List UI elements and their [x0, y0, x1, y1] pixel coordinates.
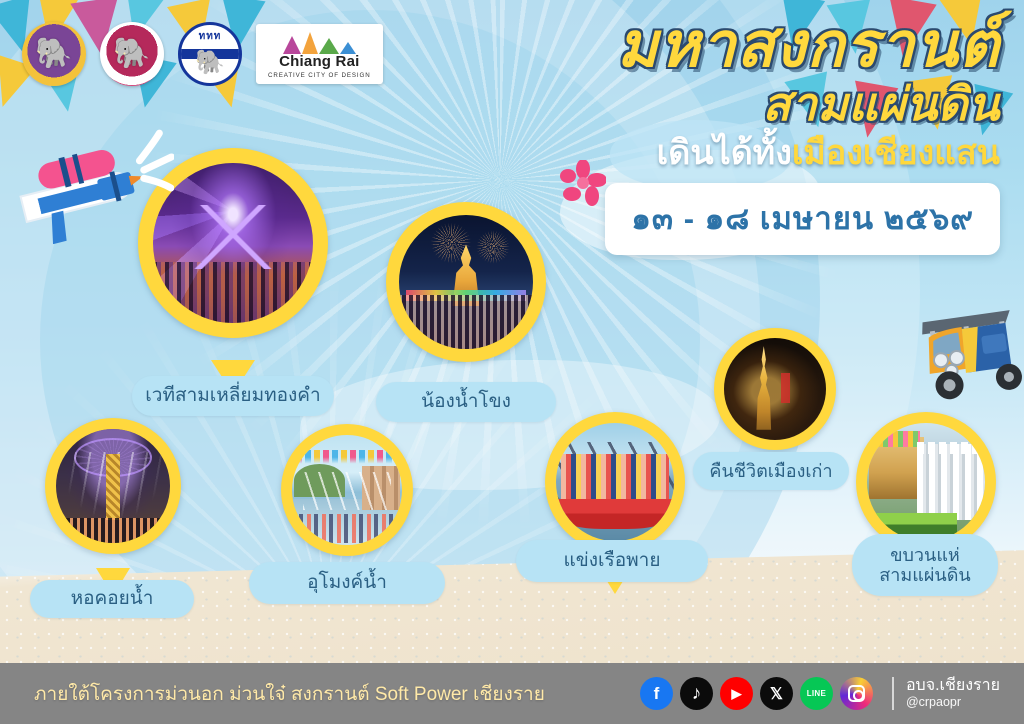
pin-label-text: แข่งเรือพาย: [564, 550, 661, 571]
elephant-icon: 🐘: [113, 39, 150, 69]
headline-block: มหาสงกรานต์ สามแผ่นดิน เดินได้ทั้งเมืองเ…: [480, 16, 1000, 255]
chiang-rai-subtitle: CREATIVE CITY OF DESIGN: [268, 72, 371, 79]
tagline: เดินได้ทั้งเมืองเชียงแสน: [480, 134, 1000, 173]
pin-photo: [724, 338, 826, 440]
pin-photo: [56, 429, 170, 543]
pin-bubble: [45, 418, 181, 554]
mountain-icon: [268, 30, 371, 54]
tagline-white: เดินได้ทั้ง: [657, 134, 792, 172]
x-icon[interactable]: 𝕏: [760, 677, 793, 710]
pin-label-text: ขบวนแห่ สามแผ่นดิน: [879, 545, 970, 585]
tagline-yellow: เมืองเชียงแสน: [792, 134, 1000, 172]
tat-logo: ททท 🐘: [178, 22, 242, 86]
instagram-icon[interactable]: [840, 677, 873, 710]
handle-username: @crpaopr: [906, 695, 1000, 710]
pin-bubble: [281, 424, 413, 556]
line-icon[interactable]: LINE: [800, 677, 833, 710]
pin-label-boat-race[interactable]: แข่งเรือพาย: [516, 540, 708, 582]
songkran-poster: 🐘 🐘 ททท 🐘 Chiang Rai CREATIVE CITY OF DE…: [0, 0, 1024, 724]
chiang-rai-logo: Chiang Rai CREATIVE CITY OF DESIGN: [256, 24, 383, 84]
pin-photo: [867, 423, 985, 541]
pin-label-text: คืนชีวิตเมืองเก่า: [709, 461, 832, 481]
account-handle: อบจ.เชียงราย @crpaopr: [892, 677, 1000, 711]
pin-water-tower[interactable]: [45, 418, 181, 586]
footer-text: ภายใต้โครงการม่วนอก ม่วนใจ๋ สงกรานต์ Sof…: [34, 679, 545, 709]
tat-logo-top-text: ททท: [181, 29, 239, 44]
youtube-icon[interactable]: ▶: [720, 677, 753, 710]
pin-label-parade[interactable]: ขบวนแห่ สามแผ่นดิน: [852, 534, 998, 596]
social-icons: f ♪ ▶ 𝕏 LINE อบจ.เชียงราย @crpaopr: [640, 677, 1024, 711]
date-chip: ๑๓ - ๑๘ เมษายน ๒๕๖๙: [605, 183, 1000, 255]
pin-bubble: [856, 412, 996, 552]
pin-bubble: [714, 328, 836, 450]
headline-line2: สามแผ่นดิน: [480, 80, 1000, 128]
handle-name: อบจ.เชียงราย: [906, 677, 1000, 696]
headline-line1: มหาสงกรานต์: [480, 16, 1000, 76]
seal-red-elephant-logo: 🐘: [100, 22, 164, 86]
footer-bar: ภายใต้โครงการม่วนอก ม่วนใจ๋ สงกรานต์ Sof…: [0, 663, 1024, 724]
chiang-rai-title: Chiang Rai: [268, 54, 371, 71]
pin-label-text: เวทีสามเหลี่ยมทองคำ: [145, 385, 320, 406]
pin-label-text: น้องน้ำโขง: [421, 391, 511, 412]
date-text: ๑๓ - ๑๘ เมษายน ๒๕๖๙: [631, 201, 974, 236]
pin-label-golden-pagoda[interactable]: คืนชีวิตเมืองเก่า: [693, 452, 849, 490]
partner-logos: 🐘 🐘 ททท 🐘 Chiang Rai CREATIVE CITY OF DE…: [22, 22, 383, 86]
tuk-tuk-icon: [912, 282, 1024, 406]
pin-label-text: หอคอยน้ำ: [71, 588, 154, 609]
pin-photo: [292, 435, 402, 545]
facebook-icon[interactable]: f: [640, 677, 673, 710]
water-gun-icon: [2, 128, 174, 244]
elephant-icon: 🐘: [35, 39, 72, 69]
pin-label-water-tunnel[interactable]: อุโมงค์น้ำ: [249, 562, 445, 604]
elephant-icon: 🐘: [181, 51, 239, 75]
pin-photo: [556, 423, 674, 541]
pin-photo: [153, 163, 313, 323]
pin-label-concert-stage[interactable]: เวทีสามเหลี่ยมทองคำ: [132, 376, 334, 416]
pin-bubble: [545, 412, 685, 552]
pin-label-mascot[interactable]: น้องน้ำโขง: [376, 382, 556, 422]
tiktok-icon[interactable]: ♪: [680, 677, 713, 710]
seal-purple-elephant-logo: 🐘: [22, 22, 86, 86]
pin-label-text: อุโมงค์น้ำ: [307, 572, 387, 593]
pin-label-water-tower[interactable]: หอคอยน้ำ: [30, 580, 194, 618]
